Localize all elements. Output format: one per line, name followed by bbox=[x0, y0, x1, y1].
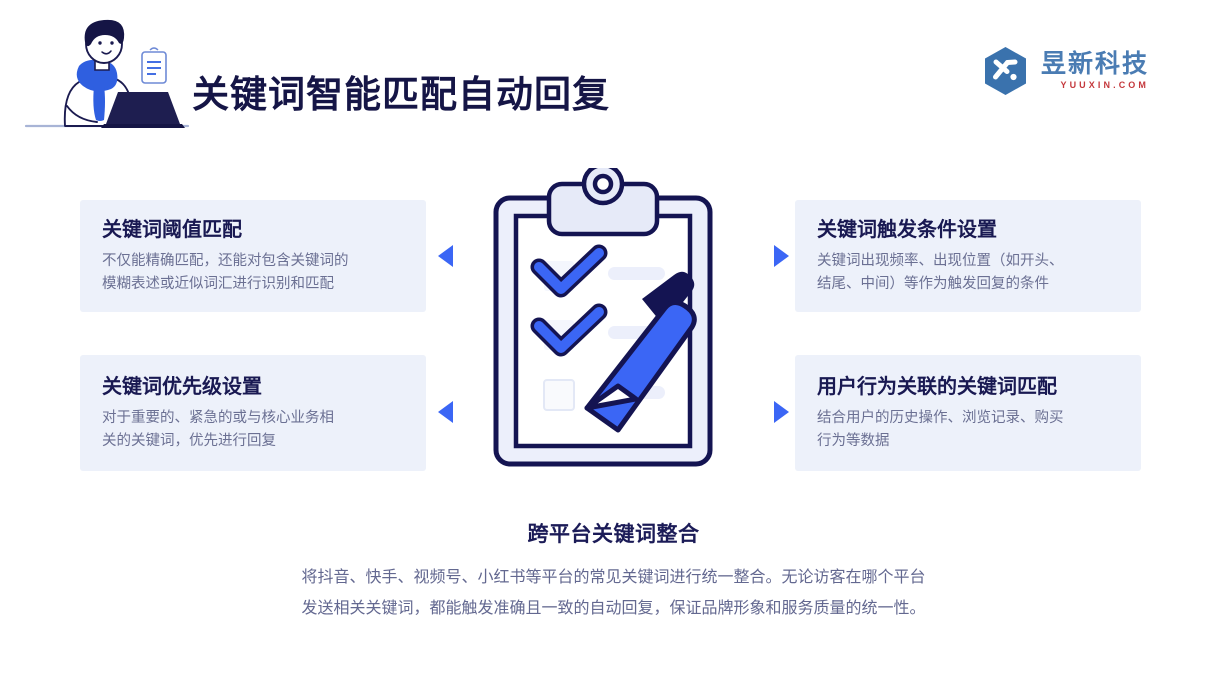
feature-card-trigger-conditions[interactable]: 关键词触发条件设置 关键词出现频率、出现位置（如开头、 结尾、中间）等作为触发回… bbox=[795, 200, 1141, 312]
card-description-line: 对于重要的、紧急的或与核心业务相 bbox=[102, 407, 404, 429]
card-description-line: 行为等数据 bbox=[817, 430, 1119, 452]
brand-name: 昱新科技 bbox=[1041, 52, 1149, 77]
arrow-left-icon bbox=[438, 401, 453, 423]
footer-body-line: 发送相关关键词，都能触发准确且一致的自动回复，保证品牌形象和服务质量的统一性。 bbox=[0, 593, 1227, 624]
clipboard-checklist-with-pen-illustration bbox=[487, 168, 749, 480]
brand-domain: YUUXIN.COM bbox=[1041, 81, 1149, 90]
page-title: 关键词智能匹配自动回复 bbox=[192, 64, 610, 118]
card-description-line: 关的关键词，优先进行回复 bbox=[102, 430, 404, 452]
card-description: 对于重要的、紧急的或与核心业务相 关的关键词，优先进行回复 bbox=[102, 407, 404, 452]
card-description: 关键词出现频率、出现位置（如开头、 结尾、中间）等作为触发回复的条件 bbox=[817, 250, 1119, 295]
card-description-line: 关键词出现频率、出现位置（如开头、 bbox=[817, 250, 1119, 272]
brand-logo: 昱新科技 YUUXIN.COM bbox=[982, 46, 1149, 96]
slide-root: 关键词智能匹配自动回复 昱新科技 YUUXIN.COM 关键词阈值匹配 不仅能精… bbox=[0, 0, 1227, 678]
person-at-laptop-illustration bbox=[22, 14, 192, 136]
card-title: 关键词优先级设置 bbox=[102, 374, 404, 400]
card-description-line: 结合用户的历史操作、浏览记录、购买 bbox=[817, 407, 1119, 429]
card-description: 结合用户的历史操作、浏览记录、购买 行为等数据 bbox=[817, 407, 1119, 452]
footer-title: 跨平台关键词整合 bbox=[0, 518, 1227, 548]
arrow-right-icon bbox=[774, 245, 789, 267]
footer-body: 将抖音、快手、视频号、小红书等平台的常见关键词进行统一整合。无论访客在哪个平台 … bbox=[0, 562, 1227, 624]
card-description-line: 模糊表述或近似词汇进行识别和匹配 bbox=[102, 273, 404, 295]
brand-text: 昱新科技 YUUXIN.COM bbox=[1041, 52, 1149, 90]
card-title: 关键词触发条件设置 bbox=[817, 217, 1119, 243]
footer-body-line: 将抖音、快手、视频号、小红书等平台的常见关键词进行统一整合。无论访客在哪个平台 bbox=[0, 562, 1227, 593]
card-title: 用户行为关联的关键词匹配 bbox=[817, 374, 1119, 400]
card-description: 不仅能精确匹配，还能对包含关键词的 模糊表述或近似词汇进行识别和匹配 bbox=[102, 250, 404, 295]
footer-section: 跨平台关键词整合 将抖音、快手、视频号、小红书等平台的常见关键词进行统一整合。无… bbox=[0, 518, 1227, 624]
card-description-line: 不仅能精确匹配，还能对包含关键词的 bbox=[102, 250, 404, 272]
feature-card-keyword-threshold[interactable]: 关键词阈值匹配 不仅能精确匹配，还能对包含关键词的 模糊表述或近似词汇进行识别和… bbox=[80, 200, 426, 312]
card-description-line: 结尾、中间）等作为触发回复的条件 bbox=[817, 273, 1119, 295]
feature-card-user-behavior-matching[interactable]: 用户行为关联的关键词匹配 结合用户的历史操作、浏览记录、购买 行为等数据 bbox=[795, 355, 1141, 471]
feature-card-keyword-priority[interactable]: 关键词优先级设置 对于重要的、紧急的或与核心业务相 关的关键词，优先进行回复 bbox=[80, 355, 426, 471]
arrow-left-icon bbox=[438, 245, 453, 267]
card-title: 关键词阈值匹配 bbox=[102, 217, 404, 243]
arrow-right-icon bbox=[774, 401, 789, 423]
hexagon-x-logo-icon bbox=[982, 46, 1029, 96]
